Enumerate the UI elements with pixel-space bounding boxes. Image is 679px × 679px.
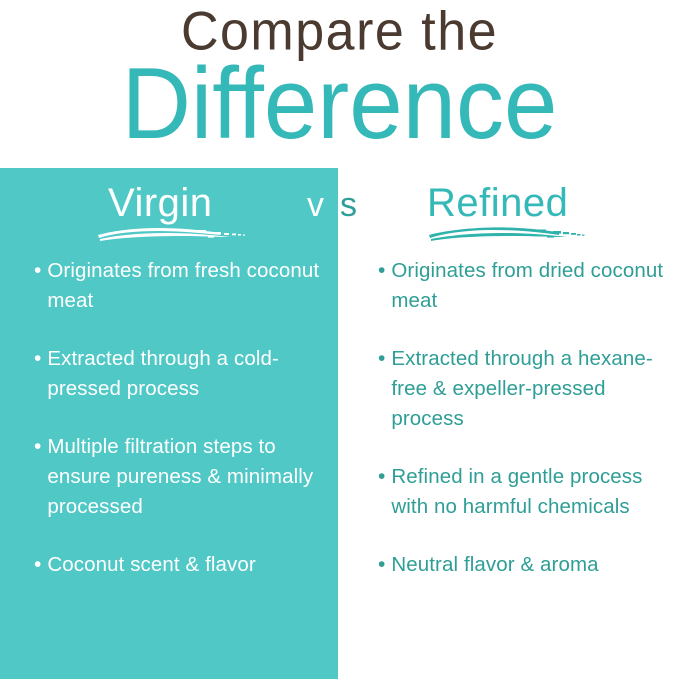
- vs-label-right-half: s: [340, 185, 357, 225]
- list-item: • Coconut scent & flavor: [34, 550, 334, 580]
- bullet-dot-icon: •: [378, 550, 385, 580]
- list-item: • Refined in a gentle process with no ha…: [378, 462, 673, 522]
- bullet-dot-icon: •: [378, 462, 385, 492]
- list-item: • Extracted through a cold-pressed proce…: [34, 344, 334, 404]
- vs-label-left-half: v: [307, 185, 324, 225]
- list-item-text: Originates from dried coconut meat: [391, 256, 673, 316]
- infographic-canvas: Compare the Difference Virgin v s Refine…: [0, 0, 679, 679]
- bullet-dot-icon: •: [378, 344, 385, 374]
- list-item-text: Extracted through a cold-pressed process: [47, 344, 334, 404]
- column-heading-refined: Refined: [427, 180, 568, 226]
- title-block: Compare the Difference: [0, 0, 679, 168]
- list-item: • Originates from fresh coconut meat: [34, 256, 334, 316]
- list-item-text: Multiple filtration steps to ensure pure…: [47, 432, 334, 522]
- bullet-dot-icon: •: [34, 432, 41, 462]
- title-line-difference: Difference: [0, 50, 679, 159]
- list-item-text: Extracted through a hexane-free & expell…: [391, 344, 673, 434]
- refined-bullet-list: • Originates from dried coconut meat • E…: [378, 256, 673, 608]
- column-heading-virgin: Virgin: [108, 180, 213, 226]
- bullet-dot-icon: •: [34, 256, 41, 286]
- list-item-text: Neutral flavor & aroma: [391, 550, 598, 580]
- list-item: • Extracted through a hexane-free & expe…: [378, 344, 673, 434]
- list-item: • Originates from dried coconut meat: [378, 256, 673, 316]
- list-item-text: Originates from fresh coconut meat: [47, 256, 334, 316]
- bullet-dot-icon: •: [34, 550, 41, 580]
- list-item: • Multiple filtration steps to ensure pu…: [34, 432, 334, 522]
- list-item-text: Coconut scent & flavor: [47, 550, 255, 580]
- bullet-dot-icon: •: [378, 256, 385, 286]
- virgin-bullet-list: • Originates from fresh coconut meat • E…: [34, 256, 334, 608]
- bullet-dot-icon: •: [34, 344, 41, 374]
- list-item: • Neutral flavor & aroma: [378, 550, 673, 580]
- list-item-text: Refined in a gentle process with no harm…: [391, 462, 673, 522]
